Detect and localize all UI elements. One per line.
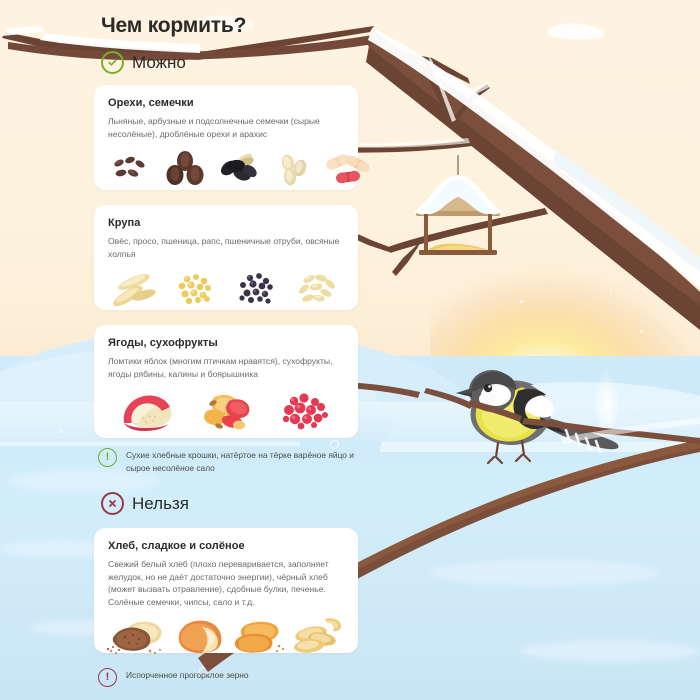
snow-drift (520, 640, 700, 662)
snowflake (610, 290, 612, 292)
check-circle-icon (101, 51, 124, 74)
section-label-allowed: Можно (132, 53, 186, 73)
food-illustration-row (104, 269, 348, 311)
flax-seeds-icon (104, 149, 158, 191)
apple-slice-icon (112, 389, 178, 431)
card-title: Орехи, семечки (108, 97, 358, 109)
infographic-canvas: Чем кормить? Можно Орехи, семечки Льняны… (0, 0, 700, 700)
bird-feeder-house (408, 155, 528, 255)
snowflake (640, 330, 643, 333)
card-nuts: Орехи, семечки Льняные, арбузные и подсо… (94, 85, 358, 190)
section-header-allowed: Можно (101, 51, 186, 74)
bread-loaves-icon (105, 615, 167, 657)
section-header-forbidden: Нельзя (101, 492, 189, 515)
dried-fruits-icon (193, 389, 259, 431)
great-tit-bird (448, 355, 638, 465)
card-description: Льняные, арбузные и подсолнечные семечки… (108, 115, 344, 140)
snowflake (520, 300, 523, 303)
note-forbidden: ! Испорченное прогорклое зерно (98, 668, 368, 687)
exclamation-circle-icon: ! (98, 668, 117, 687)
snow-drift (430, 560, 660, 586)
cookies-icon (229, 615, 287, 657)
millet-grains-icon (169, 269, 223, 311)
chips-icon (289, 615, 347, 657)
oat-grains-icon (108, 269, 162, 311)
watermelon-seeds-icon (266, 149, 320, 191)
rowan-berries-icon (274, 389, 340, 431)
card-bread: Хлеб, сладкое и солёное Свежий белый хле… (94, 528, 358, 653)
card-title: Крупа (108, 217, 358, 229)
card-description: Овёс, просо, пшеница, рапс, пшеничные от… (108, 235, 344, 260)
peanuts-icon (320, 149, 374, 191)
card-grain: Крупа Овёс, просо, пшеница, рапс, пшенич… (94, 205, 358, 310)
note-text: Сухие хлебные крошки, натёртое на тёрке … (126, 448, 368, 474)
rapeseed-grains-icon (230, 269, 284, 311)
card-berry: Ягоды, сухофрукты Ломтики яблок (многим … (94, 325, 358, 438)
note-allowed: ! Сухие хлебные крошки, натёртое на тёрк… (98, 448, 368, 474)
food-illustration-row (104, 389, 348, 431)
bun-icon (169, 615, 227, 657)
wheat-grains-icon (291, 269, 345, 311)
content-column: Чем кормить? Можно Орехи, семечки Льняны… (0, 0, 380, 700)
sunflower-seeds-icon (212, 149, 266, 191)
card-description: Свежий белый хлеб (плохо переваривается,… (108, 558, 344, 609)
card-title: Хлеб, сладкое и солёное (108, 540, 358, 552)
food-illustration-row (104, 615, 348, 657)
card-description: Ломтики яблок (многим птичкам нравятся),… (108, 355, 344, 380)
note-text: Испорченное прогорклое зерно (126, 668, 249, 682)
card-title: Ягоды, сухофрукты (108, 337, 358, 349)
cross-circle-icon (101, 492, 124, 515)
food-illustration-row (104, 149, 348, 191)
nuts-brown-icon (158, 149, 212, 191)
section-label-forbidden: Нельзя (132, 494, 189, 514)
page-title: Чем кормить? (101, 14, 246, 38)
exclamation-circle-icon: ! (98, 448, 117, 467)
